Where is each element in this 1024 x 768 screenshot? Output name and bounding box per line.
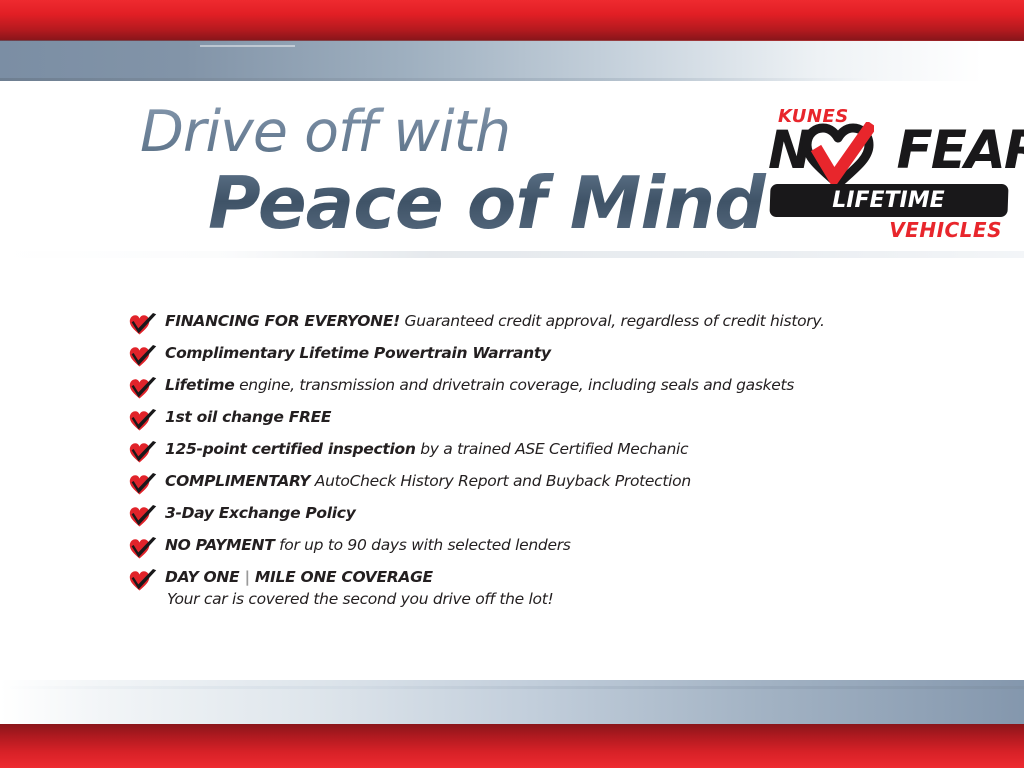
list-item-bold: Complimentary Lifetime Powertrain Warran… <box>165 344 551 362</box>
heart-check-bullet-icon <box>128 377 158 400</box>
header-divider <box>0 251 1024 258</box>
list-item-rest: Guaranteed credit approval, regardless o… <box>400 312 825 330</box>
list-item-bold: NO PAYMENT <box>165 536 274 554</box>
list-item-bold: 3-Day Exchange Policy <box>165 504 356 522</box>
logo-lifetime-certified-bar: LIFETIME CERTIFIED <box>769 184 1008 217</box>
list-item-bold: FINANCING FOR EVERYONE! <box>165 312 400 330</box>
heart-check-bullet-icon <box>128 569 158 592</box>
list-item-bold: 1st oil change FREE <box>165 408 331 426</box>
bottom-banner-gray-stripe <box>0 680 1024 724</box>
list-item-rest: for up to 90 days with selected lenders <box>274 536 570 554</box>
kunes-no-fear-logo: KUNES NOOFEAR LIFETIME CERTIFIED VEHICLE… <box>764 106 1010 238</box>
list-item: NO PAYMENT for up to 90 days with select… <box>128 534 958 566</box>
heart-check-icon <box>802 122 874 188</box>
heart-check-bullet-icon <box>128 537 158 560</box>
headline-line-2: Peace of Mind <box>208 167 780 239</box>
list-item: 1st oil change FREE <box>128 406 958 438</box>
list-item-text: DAY ONE | MILE ONE COVERAGE <box>165 566 958 589</box>
list-item-rest: engine, transmission and drivetrain cove… <box>234 376 794 394</box>
list-item: FINANCING FOR EVERYONE! Guaranteed credi… <box>128 310 958 342</box>
list-item-separator: | <box>239 568 255 586</box>
list-item-text: 1st oil change FREE <box>165 406 958 429</box>
list-item: Lifetime engine, transmission and drivet… <box>128 374 958 406</box>
bottom-banner-red-stripe <box>0 724 1024 768</box>
top-banner <box>0 0 1024 84</box>
list-item: DAY ONE | MILE ONE COVERAGE Your car is … <box>128 566 958 610</box>
top-banner-red-stripe <box>0 0 1024 41</box>
list-item-bold: COMPLIMENTARY <box>165 472 310 490</box>
heart-check-bullet-icon <box>128 345 158 368</box>
list-item: 125-point certified inspection by a trai… <box>128 438 958 470</box>
list-item-text: NO PAYMENT for up to 90 days with select… <box>165 534 958 557</box>
top-banner-sheen <box>200 45 295 47</box>
benefits-list: FINANCING FOR EVERYONE! Guaranteed credi… <box>128 310 958 610</box>
heart-check-bullet-icon <box>128 313 158 336</box>
list-item-bold-2: MILE ONE COVERAGE <box>255 568 433 586</box>
list-item-bold: DAY ONE <box>165 568 239 586</box>
headline-line-1: Drive off with <box>140 104 780 161</box>
heart-check-bullet-icon <box>128 409 158 432</box>
logo-word-fear: FEAR <box>896 120 1024 181</box>
list-item-text: COMPLIMENTARY AutoCheck History Report a… <box>165 470 958 493</box>
list-item-text: FINANCING FOR EVERYONE! Guaranteed credi… <box>165 310 958 333</box>
list-item: Complimentary Lifetime Powertrain Warran… <box>128 342 958 374</box>
list-item: 3-Day Exchange Policy <box>128 502 958 534</box>
heart-check-bullet-icon <box>128 473 158 496</box>
list-item-bold: Lifetime <box>165 376 234 394</box>
heart-check-bullet-icon <box>128 505 158 528</box>
list-item-rest: by a trained ASE Certified Mechanic <box>416 440 689 458</box>
page-title: Drive off with Peace of Mind <box>140 104 780 239</box>
list-item-rest: AutoCheck History Report and Buyback Pro… <box>310 472 691 490</box>
logo-vehicles-text: VEHICLES <box>889 218 1002 242</box>
list-item-text: Lifetime engine, transmission and drivet… <box>165 374 958 397</box>
header: Drive off with Peace of Mind KUNES NOOFE… <box>0 96 1024 264</box>
list-item-subtext: Your car is covered the second you drive… <box>165 589 958 610</box>
list-item-text: Complimentary Lifetime Powertrain Warran… <box>165 342 958 365</box>
list-item-text: 125-point certified inspection by a trai… <box>165 438 958 461</box>
bottom-banner <box>0 680 1024 768</box>
list-item-bold: 125-point certified inspection <box>165 440 416 458</box>
top-banner-gray-stripe <box>0 41 1024 81</box>
promo-page: Drive off with Peace of Mind KUNES NOOFE… <box>0 0 1024 768</box>
heart-check-bullet-icon <box>128 441 158 464</box>
list-item: COMPLIMENTARY AutoCheck History Report a… <box>128 470 958 502</box>
list-item-text: 3-Day Exchange Policy <box>165 502 958 525</box>
